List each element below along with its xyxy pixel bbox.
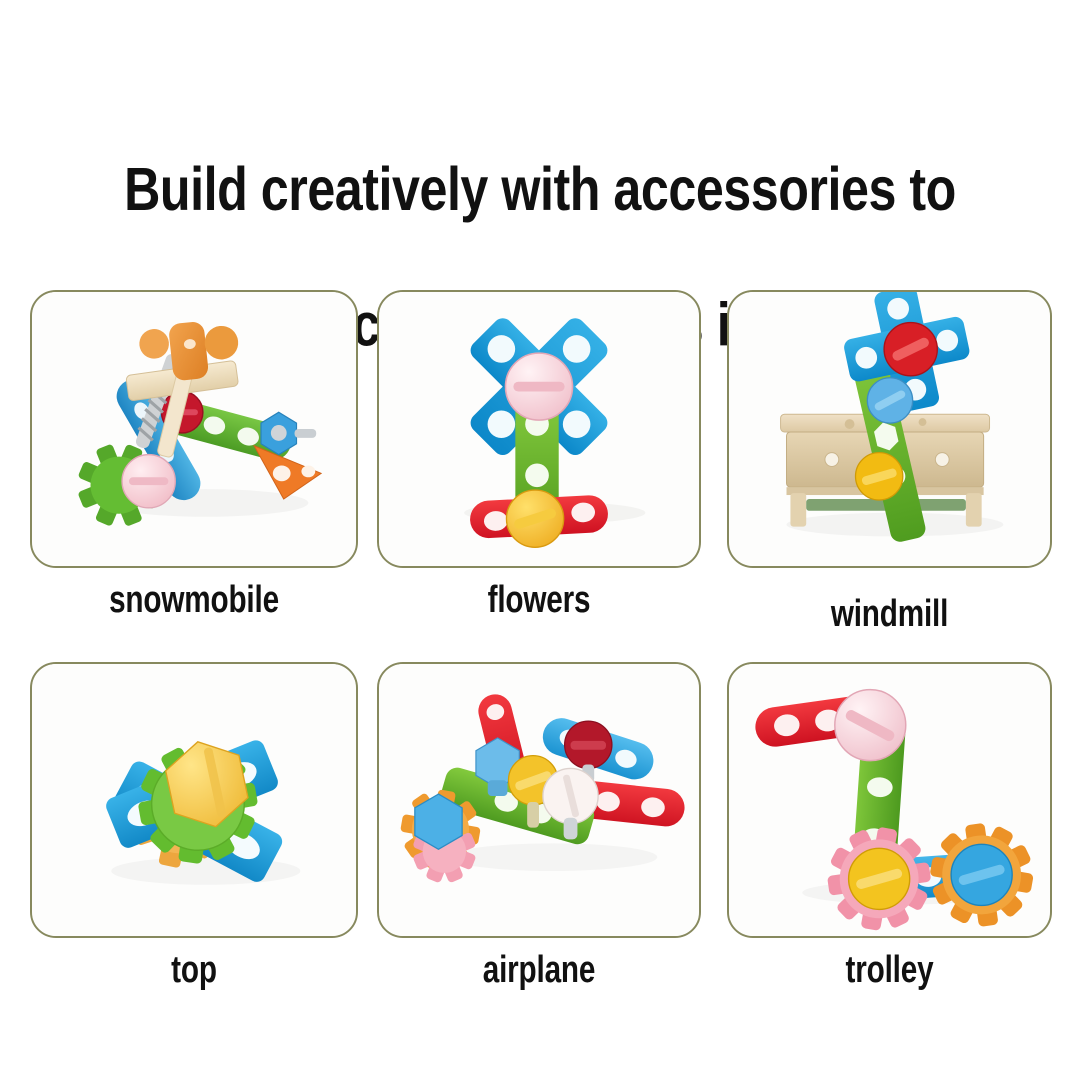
- top-build-photo: [32, 664, 356, 936]
- trolley-build-photo: [729, 664, 1050, 936]
- card-label-trolley: trolley: [743, 948, 1036, 991]
- card-label-snowmobile: snowmobile: [46, 578, 341, 621]
- windmill-build-photo: [729, 292, 1050, 566]
- photo-card-airplane[interactable]: [377, 662, 701, 938]
- card-label-flowers: flowers: [393, 578, 685, 621]
- photo-card-windmill[interactable]: [727, 290, 1052, 568]
- photo-card-trolley[interactable]: [727, 662, 1052, 938]
- card-label-top: top: [46, 948, 341, 991]
- snowmobile-build-photo: [32, 292, 356, 566]
- photo-card-snowmobile[interactable]: [30, 290, 358, 568]
- card-label-windmill: windmill: [743, 592, 1036, 635]
- photo-card-flowers[interactable]: [377, 290, 701, 568]
- airplane-build-photo: [379, 664, 699, 936]
- flowers-build-photo: [379, 292, 699, 566]
- card-label-airplane: airplane: [393, 948, 685, 991]
- build-gallery-grid: snowmobile: [0, 0, 1080, 1080]
- photo-card-top[interactable]: [30, 662, 358, 938]
